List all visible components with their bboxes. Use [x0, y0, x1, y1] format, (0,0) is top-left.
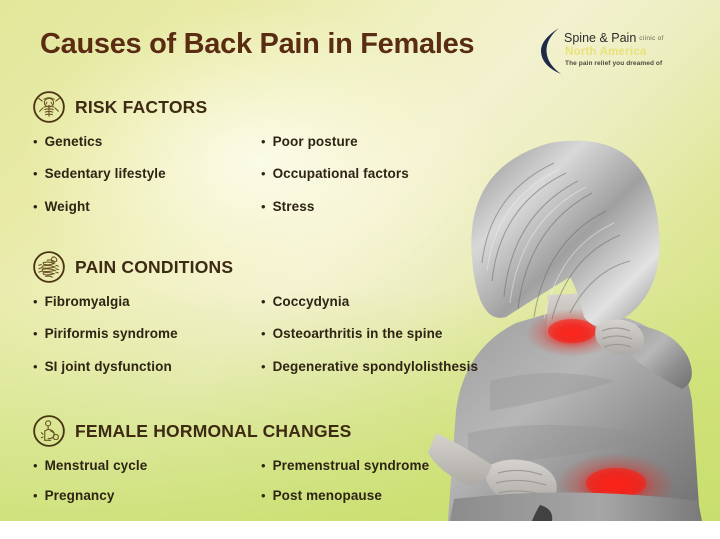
list-item-label: Weight: [45, 199, 90, 214]
list-item-label: SI joint dysfunction: [45, 359, 172, 374]
list-item-label: Stress: [273, 199, 315, 214]
infographic-poster: Causes of Back Pain in Females Spine & P…: [0, 0, 720, 539]
bullet-dot: •: [261, 167, 266, 180]
logo-clinic-of: clinic of: [639, 35, 663, 42]
list-item: •Osteoarthritis in the spine: [261, 326, 443, 341]
bullet-dot: •: [33, 200, 38, 213]
list-item: •Stress: [261, 199, 314, 214]
list-item: •SI joint dysfunction: [33, 359, 172, 374]
list-item: •Post menopause: [261, 488, 382, 503]
bullet-dot: •: [33, 167, 38, 180]
bullet-dot: •: [33, 489, 38, 502]
bullet-dot: •: [33, 295, 38, 308]
bullet-dot: •: [33, 360, 38, 373]
list-item: •Weight: [33, 199, 90, 214]
spine-icon: [32, 250, 66, 284]
list-item: •Fibromyalgia: [33, 294, 130, 309]
list-item-label: Sedentary lifestyle: [45, 166, 166, 181]
poster-content: Causes of Back Pain in Females Spine & P…: [0, 0, 720, 539]
section-title: FEMALE HORMONAL CHANGES: [75, 421, 352, 442]
bullet-dot: •: [261, 459, 266, 472]
brand-logo[interactable]: Spine & Painclinic of North America The …: [538, 26, 688, 76]
list-item: •Coccydynia: [261, 294, 349, 309]
bottom-white-border: [0, 521, 720, 539]
section-title: PAIN CONDITIONS: [75, 257, 233, 278]
logo-name-text: Spine & Pain: [564, 31, 636, 45]
section-header-female-hormonal-changes: FEMALE HORMONAL CHANGES: [32, 414, 352, 448]
list-item-label: Pregnancy: [45, 488, 115, 503]
list-item-label: Poor posture: [273, 134, 358, 149]
bullet-dot: •: [33, 327, 38, 340]
list-item: •Poor posture: [261, 134, 358, 149]
bullet-dot: •: [261, 200, 266, 213]
bullet-dot: •: [261, 295, 266, 308]
logo-tagline: The pain relief you dreamed of: [565, 60, 662, 67]
bullet-dot: •: [33, 135, 38, 148]
page-title: Causes of Back Pain in Females: [40, 28, 474, 61]
section-title: RISK FACTORS: [75, 97, 207, 118]
pregnant-woman-icon: [32, 414, 66, 448]
section-header-pain-conditions: PAIN CONDITIONS: [32, 250, 233, 284]
bullet-dot: •: [261, 489, 266, 502]
bullet-list-risk-factors: •Genetics •Sedentary lifestyle •Weight •…: [0, 134, 720, 234]
list-item-label: Fibromyalgia: [45, 294, 130, 309]
list-item: •Sedentary lifestyle: [33, 166, 166, 181]
list-item: •Premenstrual syndrome: [261, 458, 429, 473]
list-item: •Piriformis syndrome: [33, 326, 178, 341]
list-item-label: Coccydynia: [273, 294, 350, 309]
crescent-swoosh-icon: [538, 26, 564, 76]
list-item-label: Degenerative spondylolisthesis: [273, 359, 479, 374]
list-item-label: Post menopause: [273, 488, 382, 503]
section-header-risk-factors: RISK FACTORS: [32, 90, 207, 124]
list-item-label: Occupational factors: [273, 166, 409, 181]
bullet-dot: •: [33, 459, 38, 472]
list-item: •Menstrual cycle: [33, 458, 147, 473]
list-item: •Pregnancy: [33, 488, 115, 503]
logo-brand-name: Spine & Painclinic of: [564, 31, 664, 45]
bullet-list-pain-conditions: •Fibromyalgia •Piriformis syndrome •SI j…: [0, 294, 720, 394]
bullet-dot: •: [261, 135, 266, 148]
logo-region: North America: [565, 46, 646, 58]
list-item: •Degenerative spondylolisthesis: [261, 359, 478, 374]
risk-factors-icon: [32, 90, 66, 124]
list-item-label: Piriformis syndrome: [45, 326, 178, 341]
bullet-dot: •: [261, 360, 266, 373]
bullet-dot: •: [261, 327, 266, 340]
list-item-label: Osteoarthritis in the spine: [273, 326, 443, 341]
bullet-list-female-hormonal-changes: •Menstrual cycle •Pregnancy •Premenstrua…: [0, 458, 720, 528]
list-item: •Genetics: [33, 134, 102, 149]
list-item-label: Menstrual cycle: [45, 458, 148, 473]
list-item-label: Premenstrual syndrome: [273, 458, 430, 473]
list-item: •Occupational factors: [261, 166, 409, 181]
list-item-label: Genetics: [45, 134, 103, 149]
